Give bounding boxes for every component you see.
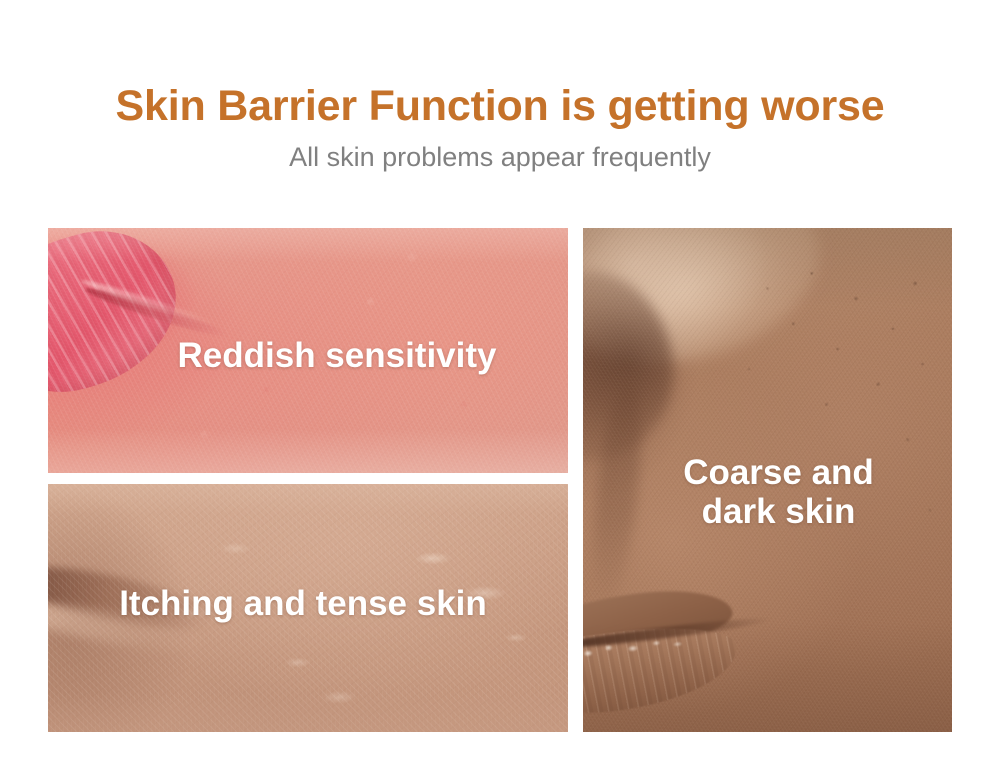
panel-caption-reddish-sensitivity: Reddish sensitivity (48, 336, 568, 375)
panel-caption-coarse-dark-skin: Coarse and dark skin (583, 453, 952, 531)
promo-page: Skin Barrier Function is getting worse A… (0, 0, 1000, 780)
caption-line-2: dark skin (605, 492, 952, 531)
header: Skin Barrier Function is getting worse A… (0, 0, 1000, 174)
page-subtitle: All skin problems appear frequently (0, 140, 1000, 174)
caption-line-1: Coarse and (683, 453, 874, 492)
panel-coarse-dark-skin[interactable]: Coarse and dark skin (583, 228, 952, 732)
problem-image-grid: Reddish sensitivity Itching and tense sk… (48, 228, 952, 732)
page-title: Skin Barrier Function is getting worse (0, 80, 1000, 132)
panel-itching-tense-skin[interactable]: Itching and tense skin (48, 484, 568, 732)
panel-reddish-sensitivity[interactable]: Reddish sensitivity (48, 228, 568, 473)
panel-caption-itching-tense-skin: Itching and tense skin (48, 584, 568, 623)
